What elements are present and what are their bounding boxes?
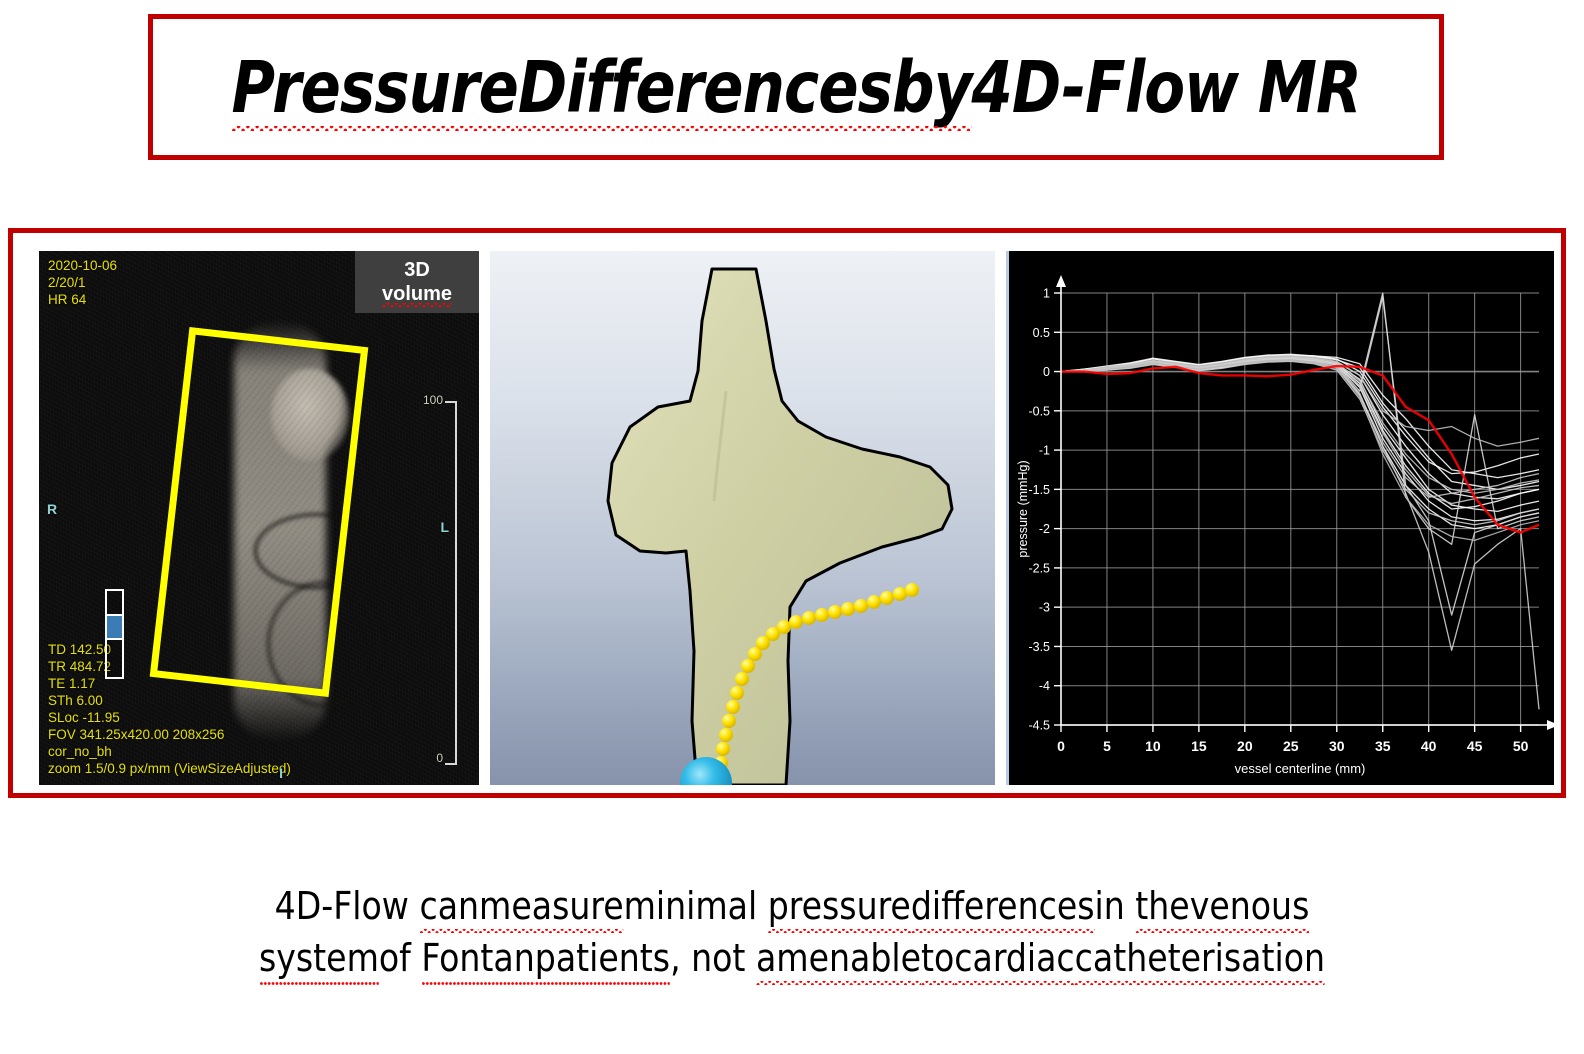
y-tick-label: 1 [1043, 287, 1050, 301]
x-tick-label: 0 [1057, 738, 1065, 754]
mri-scale-bottom-label: 0 [436, 751, 443, 765]
y-tick-label: -4.5 [1028, 719, 1050, 733]
caption-w-the: the [1135, 880, 1189, 932]
vessel-3d-render [490, 251, 995, 785]
x-tick-label: 30 [1329, 738, 1345, 754]
mri-orientation-inferior: I [279, 765, 283, 781]
caption-line-2: system of Fontan patients, not amenable … [24, 932, 1560, 984]
image-panels-frame: 2020-10-06 2/20/1 HR 64 TD 142.50 TR 484… [8, 228, 1566, 798]
chart-series [1061, 355, 1539, 489]
chart-series [1061, 357, 1539, 499]
y-tick-label: -3 [1039, 601, 1050, 615]
x-tick-label: 45 [1467, 738, 1483, 754]
y-tick-label: -1.5 [1028, 483, 1050, 497]
3d-volume-line1: 3D [404, 258, 430, 282]
caption-w-measure: measure [479, 880, 624, 932]
chart-series [1061, 293, 1539, 544]
mri-scale-bar [445, 401, 457, 765]
y-axis-label: pressure (mmHg) [1016, 460, 1030, 557]
pressure-chart: 10.50-0.5-1-1.5-2-2.5-3-3.5-4-4.50510152… [1009, 251, 1554, 785]
y-tick-label: -2.5 [1028, 561, 1050, 575]
mri-slice-slider-handle[interactable] [107, 614, 122, 640]
x-axis-label: vessel centerline (mm) [1235, 761, 1366, 776]
caption-w-in: in [1095, 884, 1136, 928]
chart-series [1061, 361, 1539, 498]
chart-series [1061, 359, 1539, 709]
x-tick-label: 20 [1237, 738, 1253, 754]
chart-series [1061, 356, 1539, 446]
caption-w-patients: patients [535, 932, 670, 984]
caption-w-venous: venous [1190, 880, 1310, 932]
mri-scale-top-label: 100 [423, 393, 443, 407]
mri-slice-slider[interactable] [105, 589, 124, 679]
y-tick-label: 0.5 [1033, 326, 1050, 340]
slide-caption: 4D-Flow can measure minimal pressure dif… [24, 880, 1560, 984]
x-axis-arrow [1547, 720, 1554, 730]
x-tick-label: 25 [1283, 738, 1299, 754]
y-tick-label: -0.5 [1028, 404, 1050, 418]
title-frame: Pressure Differences by 4D-Flow MR [148, 14, 1444, 160]
x-tick-label: 15 [1191, 738, 1207, 754]
x-tick-label: 40 [1421, 738, 1437, 754]
x-tick-label: 5 [1103, 738, 1111, 754]
caption-w-to: to [921, 932, 954, 984]
pressure-chart-panel[interactable]: 10.50-0.5-1-1.5-2-2.5-3-3.5-4-4.50510152… [1006, 251, 1554, 785]
caption-w-not: , not [670, 936, 756, 980]
mri-header-overlay: 2020-10-06 2/20/1 HR 64 [48, 257, 117, 308]
mri-orientation-right: R [47, 501, 57, 517]
3d-volume-label-box: 3D volume [355, 251, 479, 313]
mri-image-panel[interactable]: 2020-10-06 2/20/1 HR 64 TD 142.50 TR 484… [39, 251, 479, 785]
caption-w-can: can [419, 880, 479, 932]
x-tick-label: 35 [1375, 738, 1391, 754]
caption-w-cardiac: cardiac [954, 932, 1074, 984]
caption-w-system: system [259, 932, 379, 984]
caption-line-1: 4D-Flow can measure minimal pressure dif… [24, 880, 1560, 932]
title-word-4dflow-mr: 4D-Flow MR [971, 46, 1360, 129]
title-word-differences: Differences [518, 46, 892, 129]
y-tick-label: 0 [1043, 365, 1050, 379]
y-axis-arrow [1056, 275, 1066, 287]
vessel-surface [608, 269, 952, 785]
x-tick-label: 50 [1513, 738, 1529, 754]
title-word-pressure: Pressure [231, 46, 517, 129]
caption-w-fontan: Fontan [421, 932, 534, 984]
title-word-by: by [892, 46, 971, 129]
caption-w-catheterisation: catheterisation [1075, 932, 1325, 984]
chart-series [1061, 357, 1539, 509]
caption-w-differences: differences [911, 880, 1095, 932]
y-tick-label: -2 [1039, 522, 1050, 536]
caption-w-minimal: minimal [624, 884, 768, 928]
chart-series [1061, 360, 1539, 529]
y-tick-label: -1 [1039, 444, 1050, 458]
caption-w-amenable: amenable [756, 932, 921, 984]
mri-orientation-left: L [440, 519, 449, 535]
caption-w-pressure: pressure [768, 880, 911, 932]
caption-w-of: of [379, 936, 421, 980]
caption-w-4dflow: 4D-Flow [275, 884, 420, 928]
y-tick-label: -3.5 [1028, 640, 1050, 654]
y-tick-label: -4 [1039, 679, 1050, 693]
x-tick-label: 10 [1145, 738, 1161, 754]
3d-volume-line2: volume [382, 282, 452, 306]
volume-render-panel[interactable] [490, 251, 995, 785]
page-title: Pressure Differences by 4D-Flow MR [231, 46, 1360, 129]
